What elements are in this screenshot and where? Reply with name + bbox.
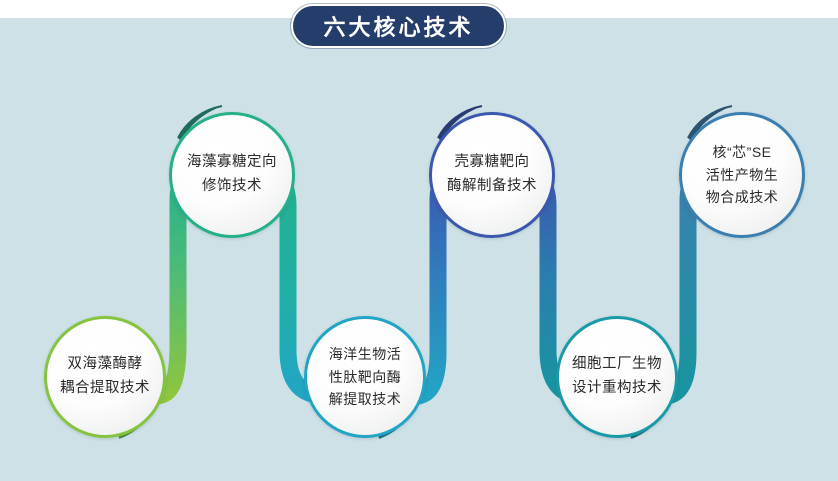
node-2-line-1: 海藻寡糖定向 xyxy=(187,151,277,175)
node-5-line-2: 设计重构技术 xyxy=(572,377,662,401)
diagram-title-badge: 六大核心技术 xyxy=(291,4,506,48)
node-3-line-1: 海洋生物活 xyxy=(329,343,402,366)
node-1[interactable]: 双海藻酶酵 耦合提取技术 xyxy=(44,316,166,438)
node-6-line-1: 核“芯”SE xyxy=(713,141,772,164)
node-1-line-1: 双海藻酶酵 xyxy=(68,353,143,377)
node-6-line-2: 活性产物生 xyxy=(706,164,779,187)
node-4-line-2: 酶解制备技术 xyxy=(447,175,537,199)
node-2-line-2: 修饰技术 xyxy=(202,175,262,199)
node-6-line-3: 物合成技术 xyxy=(706,186,779,209)
node-4-line-1: 壳寡糖靶向 xyxy=(455,151,530,175)
node-1-line-2: 耦合提取技术 xyxy=(60,377,150,401)
node-3-line-2: 性肽靶向酶 xyxy=(329,366,402,389)
node-6[interactable]: 核“芯”SE 活性产物生 物合成技术 xyxy=(679,112,805,238)
node-5-line-1: 细胞工厂生物 xyxy=(572,353,662,377)
node-2[interactable]: 海藻寡糖定向 修饰技术 xyxy=(169,112,295,238)
diagram-canvas: 双海藻酶酵 耦合提取技术 海藻寡糖定向 修饰技术 海洋生物活 性肽靶向酶 解提取… xyxy=(0,0,838,481)
node-5[interactable]: 细胞工厂生物 设计重构技术 xyxy=(556,316,678,438)
node-3-line-3: 解提取技术 xyxy=(329,388,402,411)
node-4[interactable]: 壳寡糖靶向 酶解制备技术 xyxy=(429,112,555,238)
page-title: 六大核心技术 xyxy=(323,10,473,42)
node-3[interactable]: 海洋生物活 性肽靶向酶 解提取技术 xyxy=(304,316,426,438)
